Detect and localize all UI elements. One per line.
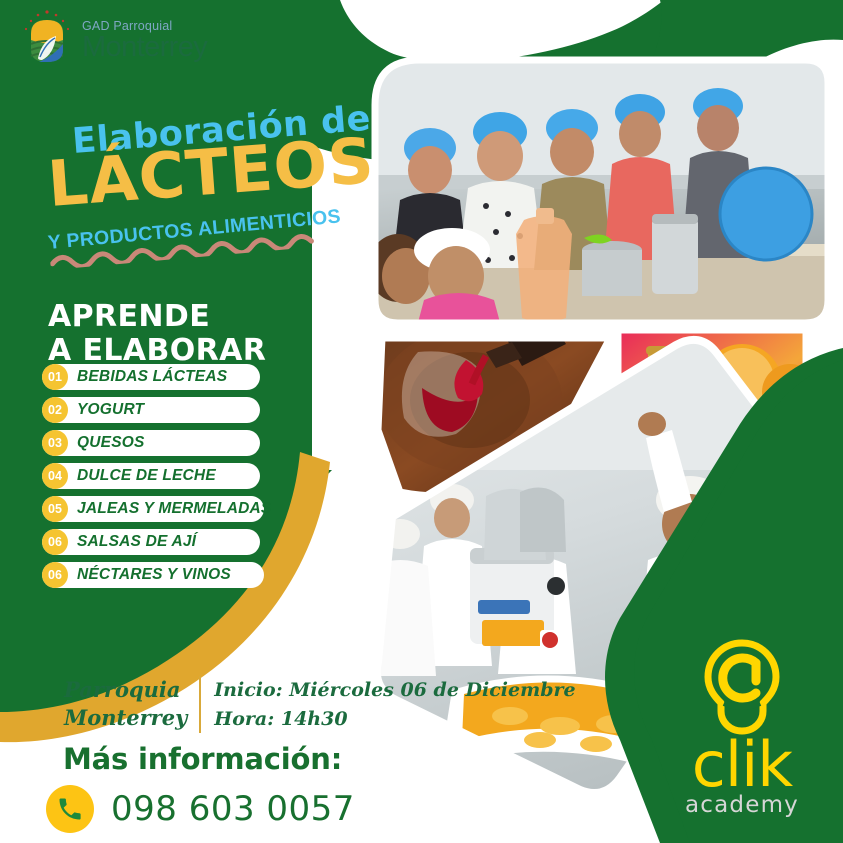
list-item[interactable]: 03 QUESOS <box>42 430 271 456</box>
list-item-pill <box>42 397 260 423</box>
gad-logo-title: Monterrey <box>82 33 207 62</box>
event-detail: Inicio: Miércoles 06 de Diciembre Hora: … <box>214 676 575 733</box>
more-info-heading: Más información: <box>63 742 342 776</box>
course-topic-list: 01 BEBIDAS LÁCTEAS 02 YOGURT 03 QUESOS 0… <box>42 364 271 595</box>
list-item-label: SALSAS DE AJÍ <box>77 533 196 551</box>
list-item[interactable]: 06 NÉCTARES Y VINOS <box>42 562 271 588</box>
list-item-label: DULCE DE LECHE <box>77 467 216 485</box>
clik-academy-logo: clik academy <box>685 637 799 817</box>
list-item-number: 02 <box>42 397 68 423</box>
list-item-number: 06 <box>42 529 68 555</box>
aprende-heading: APRENDE A ELABORAR <box>48 300 266 367</box>
list-item-label: JALEAS Y MERMELADAS <box>77 500 271 518</box>
list-item[interactable]: 02 YOGURT <box>42 397 271 423</box>
clik-wordmark: clik <box>692 739 792 792</box>
event-start-date: Inicio: Miércoles 06 de Diciembre <box>214 676 575 705</box>
gad-logo: GAD Parroquial Monterrey <box>20 10 207 68</box>
event-time: Hora: 14h30 <box>214 705 575 734</box>
list-item-number: 04 <box>42 463 68 489</box>
phone-icon <box>46 785 94 833</box>
list-item[interactable]: 05 JALEAS Y MERMELADAS <box>42 496 271 522</box>
list-item[interactable]: 06 SALSAS DE AJÍ <box>42 529 271 555</box>
aprende-line-1: APRENDE <box>48 300 266 334</box>
phone-row[interactable]: 098 603 0057 <box>46 785 355 833</box>
gad-monterrey-emblem <box>20 10 74 68</box>
photo-workshop-group <box>368 60 830 330</box>
list-item-label: YOGURT <box>77 401 144 419</box>
list-item-pill <box>42 430 260 456</box>
aprende-line-2: A ELABORAR <box>48 334 266 368</box>
list-item-number: 06 <box>42 562 68 588</box>
list-item-number: 03 <box>42 430 68 456</box>
poster-canvas: GAD Parroquial Monterrey Elaboración de … <box>0 0 843 843</box>
list-item-label: BEBIDAS LÁCTEAS <box>77 368 227 386</box>
title-line-lacteos: LÁCTEOS <box>46 132 379 214</box>
list-item-number: 01 <box>42 364 68 390</box>
list-item-number: 05 <box>42 496 68 522</box>
title-block: Elaboración de LÁCTEOS Y PRODUCTOS ALIME… <box>48 122 378 255</box>
info-divider <box>199 676 201 733</box>
list-item[interactable]: 04 DULCE DE LECHE <box>42 463 271 489</box>
event-info: Parroquia Monterrey Inicio: Miércoles 06… <box>64 676 576 733</box>
list-item-label: QUESOS <box>77 434 145 452</box>
phone-number[interactable]: 098 603 0057 <box>111 789 355 829</box>
event-place-line-2: Monterrey <box>64 704 187 732</box>
clik-tagline: academy <box>685 794 799 817</box>
list-item[interactable]: 01 BEBIDAS LÁCTEAS <box>42 364 271 390</box>
lightbulb-c-icon <box>694 637 790 737</box>
event-place-line-1: Parroquia <box>64 676 187 704</box>
list-item-label: NÉCTARES Y VINOS <box>77 566 231 584</box>
event-place: Parroquia Monterrey <box>64 676 199 733</box>
